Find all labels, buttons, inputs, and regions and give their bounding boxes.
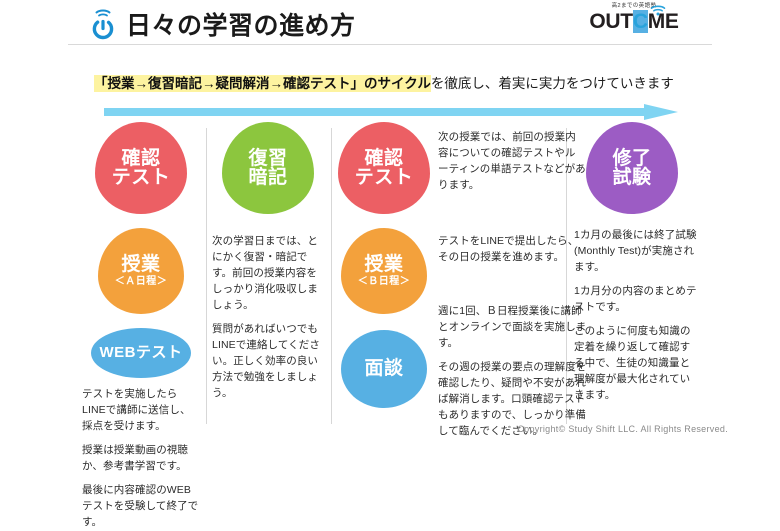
bottom-edge: [0, 436, 780, 440]
column-3-text-1: 次の授業では、前回の授業内容についての確認テストやルーティンの単語テストなどがあ…: [438, 130, 586, 194]
subtitle: 「授業→復習暗記→疑問解消→確認テスト」のサイクルを徹底し、着実に実力をつけてい…: [94, 72, 674, 92]
paragraph: 質問があればいつでもLINEで連絡してください。正しく効率の良い方法で勉強をしま…: [212, 322, 324, 402]
wifi-power-icon: [88, 6, 122, 40]
subtitle-rest: を徹底し、着実に実力をつけていきます: [431, 76, 674, 91]
paragraph: 最後に内容確認のWEBテストを受験して終了です。: [82, 483, 200, 531]
blob-label: 面談: [364, 359, 403, 378]
blob-label: 修了試験: [612, 149, 651, 188]
progress-arrow-head: [644, 104, 678, 120]
blob-jugyo-b: 授業 ＜Ｂ日程＞: [341, 228, 427, 314]
right-rail: [712, 0, 780, 440]
blob-label: 確認テスト: [112, 149, 171, 188]
blob-label: 確認テスト: [355, 149, 414, 188]
paragraph: 週に1回、Ｂ日程授業後に講師とオンラインで面談を実施します。: [438, 304, 590, 352]
blob-jugyo-a: 授業 ＜Ａ日程＞: [98, 228, 184, 314]
logo-subtitle: 高2までの英語塾: [564, 4, 704, 10]
wifi-icon: [650, 3, 666, 14]
header: 日々の学習の進め方 高2までの英語塾 OUTCME: [68, 0, 712, 44]
slide-page: 日々の学習の進め方 高2までの英語塾 OUTCME 「授業→復習暗記→疑問解消→…: [0, 0, 780, 440]
column-3-text-2: テストをLINEで提出したら、その日の授業を進めます。: [438, 234, 586, 266]
blob-mendan: 面談: [341, 330, 427, 408]
column-1: 確認テスト 授業 ＜Ａ日程＞ WEBテスト テストを実施したらLINEで講師に送…: [82, 122, 200, 422]
paragraph: テストをLINEで提出したら、その日の授業を進めます。: [438, 234, 586, 266]
logo-wordmark: OUTCME: [564, 11, 704, 32]
blob-sublabel: ＜Ａ日程＞: [115, 277, 168, 287]
subtitle-highlight: 「授業→復習暗記→疑問解消→確認テスト」のサイクル: [94, 75, 431, 92]
paragraph: 授業は授業動画の視聴か、参考書学習です。: [82, 443, 200, 475]
column-3-blobs: 確認テスト 授業 ＜Ｂ日程＞ 面談: [338, 122, 430, 408]
blob-web-test: WEBテスト: [91, 328, 191, 378]
columns-area: 確認テスト 授業 ＜Ａ日程＞ WEBテスト テストを実施したらLINEで講師に送…: [82, 122, 698, 422]
blob-kakunin-test: 確認テスト: [95, 122, 187, 214]
column-3: 確認テスト 授業 ＜Ｂ日程＞ 面談 次の授業では、前回の授業内容についての確認テ…: [338, 122, 588, 422]
blob-label: WEBテスト: [100, 345, 183, 360]
brand-logo: 高2までの英語塾 OUTCME: [564, 2, 704, 40]
progress-arrow: [104, 104, 678, 120]
column-2: 復習暗記 次の学習日までは、とにかく復習・暗記です。前回の授業内容をしっかり消化…: [212, 122, 324, 422]
footer-copyright: Copyright© Study Shift LLC. All Rights R…: [0, 424, 780, 434]
logo-part-c: C: [633, 10, 648, 33]
column-2-text: 次の学習日までは、とにかく復習・暗記です。前回の授業内容をしっかり消化吸収しまし…: [212, 234, 324, 402]
paragraph: 1カ月分の内容のまとめテストです。: [574, 284, 698, 316]
column-divider-1: [206, 128, 207, 424]
page-title: 日々の学習の進め方: [126, 6, 356, 42]
blob-label: 授業 ＜Ａ日程＞: [115, 255, 168, 288]
column-4: 修了試験 1カ月の最後には終了試験(Monthly Test)が実施されます。 …: [574, 122, 698, 422]
column-divider-2: [331, 128, 332, 424]
column-4-text: 1カ月の最後には終了試験(Monthly Test)が実施されます。 1カ月分の…: [574, 228, 698, 404]
blob-kakunin-test: 確認テスト: [338, 122, 430, 214]
progress-arrow-bar: [104, 108, 649, 116]
paragraph: 次の学習日までは、とにかく復習・暗記です。前回の授業内容をしっかり消化吸収しまし…: [212, 234, 324, 314]
blob-label: 授業 ＜Ｂ日程＞: [358, 255, 411, 288]
paragraph: 次の授業では、前回の授業内容についての確認テストやルーティンの単語テストなどがあ…: [438, 130, 586, 194]
column-1-text: テストを実施したらLINEで講師に送信し、採点を受けます。 授業は授業動画の視聴…: [82, 387, 200, 531]
blob-shuryo-shiken: 修了試験: [586, 122, 678, 214]
paragraph: 1カ月の最後には終了試験(Monthly Test)が実施されます。: [574, 228, 698, 276]
left-rail: [0, 0, 68, 440]
paragraph: このように何度も知識の定着を繰り返して確認する中で、生徒の知識量と理解度が最大化…: [574, 324, 698, 404]
blob-label: 復習暗記: [248, 149, 287, 188]
blob-fukushu-anki: 復習暗記: [222, 122, 314, 214]
blob-sublabel: ＜Ｂ日程＞: [358, 277, 411, 287]
logo-part-out: OUT: [589, 10, 632, 33]
column-3-text-3: 週に1回、Ｂ日程授業後に講師とオンラインで面談を実施します。 その週の授業の要点…: [438, 304, 590, 440]
header-divider: [68, 44, 712, 45]
